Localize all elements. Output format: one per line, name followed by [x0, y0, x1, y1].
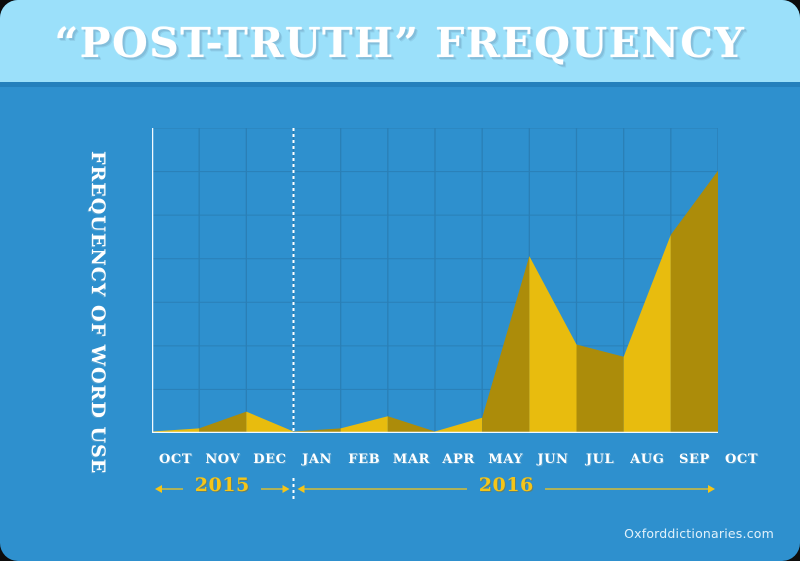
area-segment: [671, 171, 718, 433]
year-bracket-arrow-right: [283, 485, 290, 493]
year-label-2015: 2015: [183, 474, 261, 496]
area-chart-svg: [152, 128, 718, 433]
area-segment: [388, 416, 435, 433]
x-axis-month-label: FEB: [339, 452, 389, 467]
x-axis-month-label: APR: [434, 452, 484, 467]
y-axis-label: FREQUENCY OF WORD USE: [87, 151, 109, 411]
x-axis-month-label: JUL: [575, 452, 625, 467]
area-segment: [246, 412, 293, 433]
x-axis-month-labels: OCTNOVDECJANFEBMARAPRMAYJUNJULAUGSEPOCT: [152, 452, 718, 472]
x-axis-month-label: JAN: [292, 452, 342, 467]
year-brackets: 2015 2016: [0, 476, 800, 502]
x-axis-month-label: SEP: [669, 452, 719, 467]
year-label-2016: 2016: [467, 474, 545, 496]
header-divider-rule: [0, 82, 800, 87]
x-axis-month-label: MAY: [481, 452, 531, 467]
x-axis-month-label: OCT: [151, 452, 201, 467]
year-bracket-svg: [0, 476, 800, 502]
x-axis-month-label: AUG: [622, 452, 672, 467]
infographic-poster: “POST-TRUTH” FREQUENCY FREQUENCY OF WORD…: [0, 0, 800, 561]
source-credit: Oxforddictionaries.com: [624, 526, 774, 541]
year-bracket-arrow-left: [155, 485, 162, 493]
area-segment: [341, 416, 388, 433]
chart-plot-area: [152, 128, 718, 433]
area-segment: [482, 256, 529, 433]
area-segment: [624, 235, 671, 433]
area-segment: [577, 345, 624, 433]
year-bracket-arrow-right: [708, 485, 715, 493]
area-segment: [199, 412, 246, 433]
x-axis-month-label: NOV: [198, 452, 248, 467]
area-segment: [529, 256, 576, 433]
x-axis-month-label: MAR: [386, 452, 436, 467]
x-axis-month-label: JUN: [528, 452, 578, 467]
x-axis-month-label: OCT: [717, 452, 767, 467]
area-segment: [435, 418, 482, 433]
x-axis-month-label: DEC: [245, 452, 295, 467]
y-axis-label-wrap: FREQUENCY OF WORD USE: [78, 160, 118, 420]
page-title: “POST-TRUTH” FREQUENCY: [0, 19, 800, 67]
year-bracket-arrow-left: [298, 485, 305, 493]
